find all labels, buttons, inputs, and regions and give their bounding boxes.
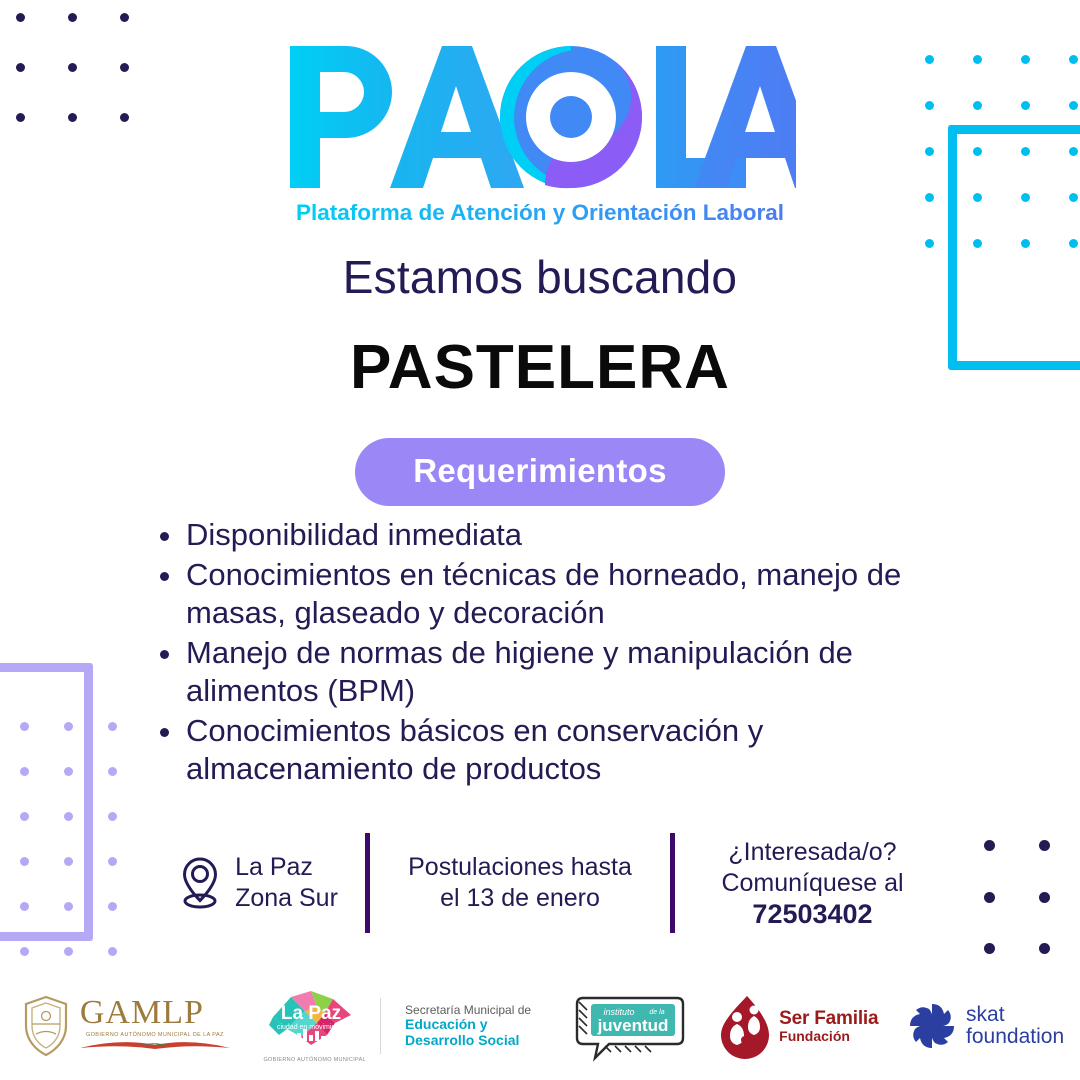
paola-logo: Plataforma de Atención y Orientación Lab… <box>0 42 1080 228</box>
ser-familia-line1: Ser Familia <box>779 1009 878 1029</box>
requirements-badge: Requerimientos <box>355 438 725 506</box>
footer-logo-strip: GAMLP GOBIERNO AUTÓNOMO MUNICIPAL DE LA … <box>0 980 1080 1072</box>
contact-line1: ¿Interesada/o? <box>721 837 903 868</box>
contact-line2: Comuníquese al <box>721 868 903 899</box>
la-paz-mark-icon: La Paz ciudad en movimiento <box>263 989 359 1051</box>
requirement-item: Manejo de normas de higiene y manipulaci… <box>152 634 952 710</box>
la-paz-text: La Paz <box>281 1003 341 1024</box>
instituto-juventud-logo: instituto de la juventud <box>555 980 705 1072</box>
juventud-line2: de la <box>650 1009 665 1016</box>
ser-familia-line2: Fundación <box>779 1029 878 1044</box>
deadline-line1: Postulaciones hasta <box>408 852 632 883</box>
deadline-text-block: Postulaciones hasta el 13 de enero <box>408 852 632 914</box>
skat-line1: skat <box>966 1004 1064 1026</box>
tagline-text: Plataforma de Atención y Orientación Lab… <box>296 200 784 225</box>
ser-familia-logo: Ser Familia Fundación <box>705 980 890 1072</box>
info-location: La Paz Zona Sur <box>150 833 365 933</box>
ser-familia-mark-icon <box>717 993 773 1059</box>
location-text-block: La Paz Zona Sur <box>235 852 338 914</box>
la-paz-subtext: GOBIERNO AUTÓNOMO MUNICIPAL <box>263 1057 365 1063</box>
location-line2: Zona Sur <box>235 883 338 914</box>
skat-line2: foundation <box>966 1026 1064 1048</box>
gamlp-ribbon-icon <box>80 1039 230 1051</box>
requirement-item: Conocimientos básicos en conservación y … <box>152 712 952 788</box>
poster-canvas: Plataforma de Atención y Orientación Lab… <box>0 0 1080 1080</box>
gamlp-crest-icon <box>20 994 72 1058</box>
job-title: PASTELERA <box>0 332 1080 403</box>
skat-pinwheel-icon <box>906 1000 958 1052</box>
info-contact: ¿Interesada/o? Comuníquese al 72503402 <box>675 833 950 933</box>
location-line1: La Paz <box>235 852 338 883</box>
secretaria-line3: Desarrollo Social <box>405 1033 531 1049</box>
paola-wordmark-icon <box>284 42 796 192</box>
deadline-line2: el 13 de enero <box>408 883 632 914</box>
juventud-line3: juventud <box>597 1016 669 1035</box>
kicker-text: Estamos buscando <box>0 250 1080 304</box>
info-deadline: Postulaciones hasta el 13 de enero <box>370 833 670 933</box>
secretaria-line1: Secretaría Municipal de <box>405 1004 531 1017</box>
info-bar: La Paz Zona Sur Postulaciones hasta el 1… <box>150 833 950 933</box>
gamlp-text: GAMLP <box>80 996 230 1030</box>
requirement-item: Conocimientos en técnicas de horneado, m… <box>152 556 952 632</box>
requirements-list: Disponibilidad inmediata Conocimientos e… <box>152 516 952 790</box>
juventud-speech-bubble-icon: instituto de la juventud <box>565 990 695 1062</box>
requirement-item: Disponibilidad inmediata <box>152 516 952 554</box>
paola-o-spiral-icon <box>500 46 642 188</box>
gamlp-subtext: GOBIERNO AUTÓNOMO MUNICIPAL DE LA PAZ <box>80 1032 230 1038</box>
contact-phone: 72503402 <box>721 899 903 930</box>
la-paz-logo: La Paz ciudad en movimiento GOBIERNO AUT… <box>250 980 380 1072</box>
contact-text-block: ¿Interesada/o? Comuníquese al 72503402 <box>721 837 903 930</box>
secretaria-line2: Educación y <box>405 1017 531 1033</box>
secretaria-logo: Secretaría Municipal de Educación y Desa… <box>381 980 556 1072</box>
requirements-badge-row: Requerimientos <box>0 438 1080 506</box>
paola-tagline: Plataforma de Atención y Orientación Lab… <box>284 198 796 228</box>
location-pin-icon <box>177 855 223 911</box>
la-paz-inner-subtext: ciudad en movimiento <box>277 1024 345 1031</box>
gamlp-logo: GAMLP GOBIERNO AUTÓNOMO MUNICIPAL DE LA … <box>0 980 250 1072</box>
skat-foundation-logo: skat foundation <box>890 980 1080 1072</box>
decor-frame-lilac-bottom-left <box>0 663 93 941</box>
